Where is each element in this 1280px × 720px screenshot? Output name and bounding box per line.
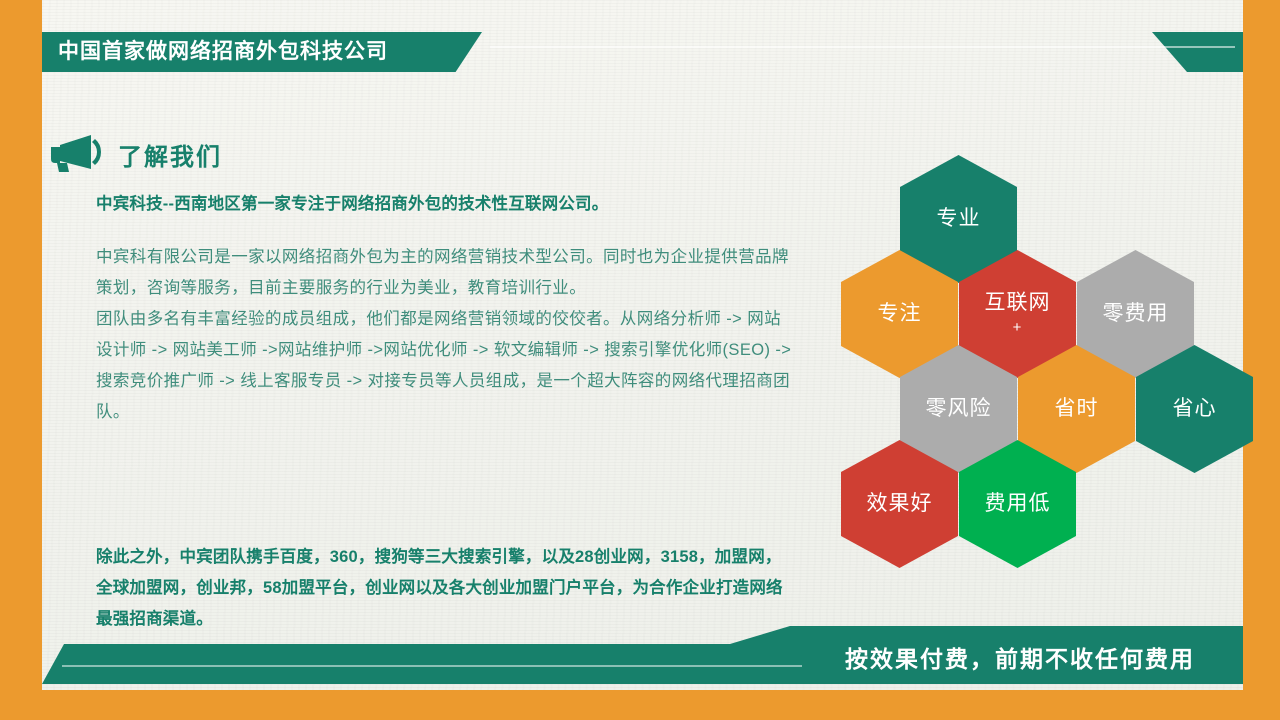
hexagon-label: 省时	[1055, 397, 1099, 421]
hexagon-sublabel: +	[1013, 319, 1023, 336]
footer-divider-line	[62, 665, 802, 667]
bold-highlight-paragraph: 除此之外，中宾团队携手百度，360，搜狗等三大搜索引擎，以及28创业网，3158…	[96, 542, 786, 635]
slide-canvas: 中国首家做网络招商外包科技公司 了解我们 中宾科技--西南地区第一家专注于网络招…	[0, 0, 1280, 720]
hexagon-label: 费用低	[985, 492, 1051, 516]
paragraph-2: 团队由多名有丰富经验的成员组成，他们都是网络营销领域的佼佼者。从网络分析师 ->…	[96, 304, 796, 428]
page-title: 中国首家做网络招商外包科技公司	[58, 34, 388, 70]
hexagon-label: 零风险	[926, 397, 992, 421]
hexagon-label: 专业	[937, 207, 981, 231]
hexagon-label: 零费用	[1103, 302, 1169, 326]
footer-tagline: 按效果付费，前期不收任何费用	[845, 640, 1195, 674]
hexagon-label: 专注	[878, 302, 922, 326]
hexagon-label: 互联网	[985, 291, 1051, 315]
hexagon-label: 效果好	[867, 492, 933, 516]
footer-left-band	[42, 644, 802, 684]
hexagon-label: 省心	[1173, 397, 1217, 421]
lead-paragraph: 中宾科技--西南地区第一家专注于网络招商外包的技术性互联网公司。	[96, 192, 796, 216]
paragraph-1: 中宾科有限公司是一家以网络招商外包为主的网络营销技术型公司。同时也为企业提供营品…	[96, 242, 796, 304]
hexagon-cluster: 专业专注互联网+零费用零风险省时省心效果好费用低	[840, 155, 1240, 545]
header-divider-line	[490, 46, 1235, 48]
section-heading: 了解我们	[118, 137, 222, 172]
megaphone-icon	[47, 133, 103, 173]
body-text-column: 中宾科技--西南地区第一家专注于网络招商外包的技术性互联网公司。 中宾科有限公司…	[96, 192, 796, 428]
